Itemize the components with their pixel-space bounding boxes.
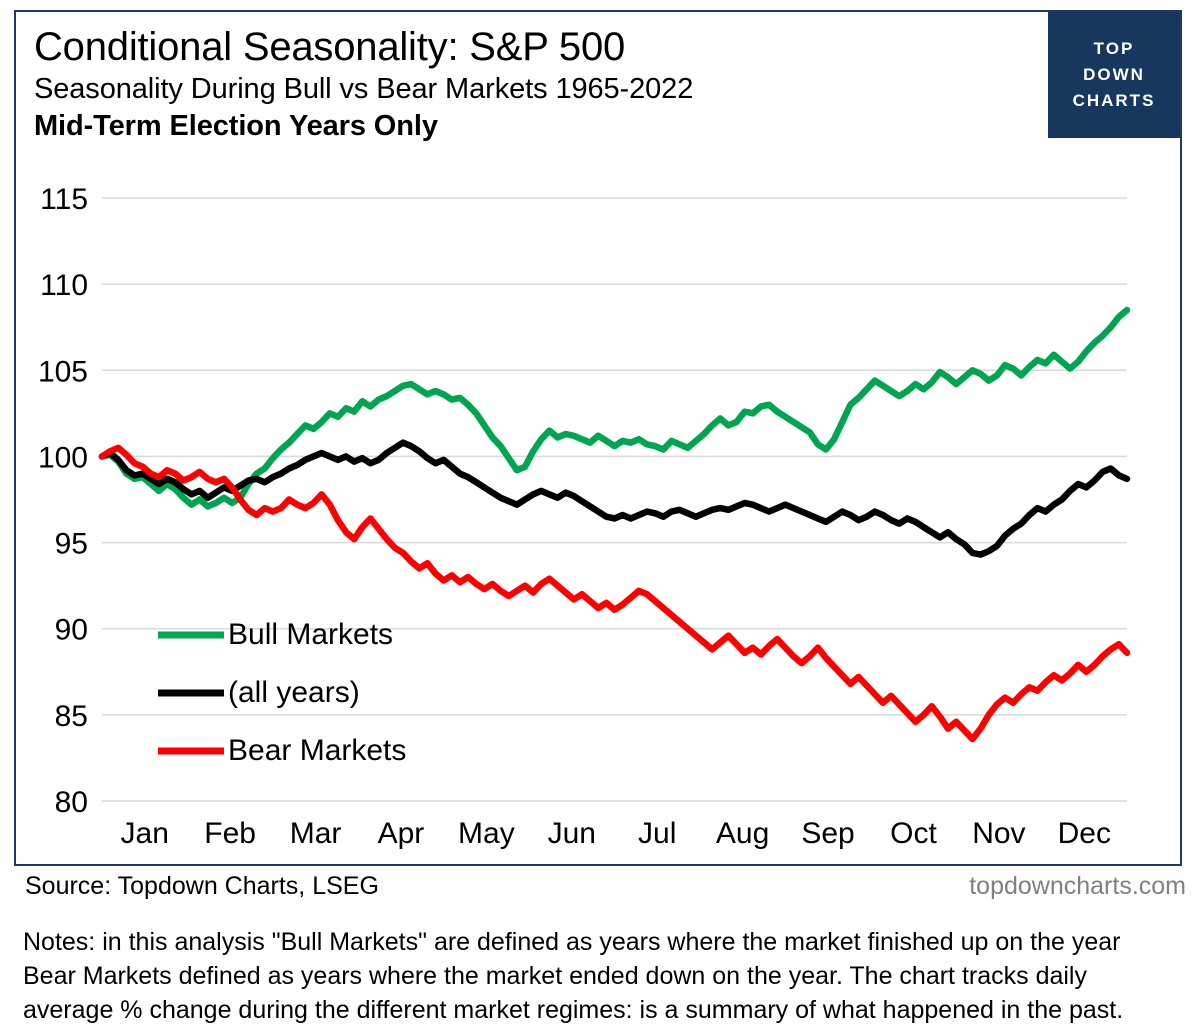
legend-label: Bear Markets bbox=[228, 734, 406, 767]
x-axis-tick: Oct bbox=[890, 817, 937, 850]
source-row: Source: Topdown Charts, LSEG topdownchar… bbox=[16, 872, 1186, 906]
legend-label: (all years) bbox=[228, 676, 360, 709]
x-axis-tick-labels: JanFebMarAprMayJunJulAugSepOctNovDec bbox=[121, 817, 1111, 850]
source-label: Source: Topdown Charts, LSEG bbox=[25, 872, 379, 901]
y-axis-tick-labels: 80859095100105110115 bbox=[38, 183, 88, 819]
x-axis-tick: Jan bbox=[121, 817, 169, 850]
gridlines bbox=[102, 198, 1127, 801]
series-lines bbox=[102, 310, 1127, 739]
x-axis-tick: Apr bbox=[378, 817, 425, 850]
plot-area: 80859095100105110115 JanFebMarAprMayJunJ… bbox=[16, 12, 1180, 864]
seasonality-line-chart: 80859095100105110115 JanFebMarAprMayJunJ… bbox=[16, 12, 1180, 864]
x-axis-tick: Aug bbox=[716, 817, 769, 850]
y-axis-tick: 80 bbox=[55, 786, 88, 819]
x-axis-tick: Jun bbox=[548, 817, 596, 850]
y-axis-tick: 95 bbox=[55, 528, 88, 561]
x-axis-tick: Mar bbox=[290, 817, 342, 850]
y-axis-tick: 85 bbox=[55, 700, 88, 733]
series-line-all-years bbox=[102, 443, 1127, 555]
legend-label: Bull Markets bbox=[228, 618, 393, 651]
y-axis-tick: 115 bbox=[40, 183, 88, 216]
y-axis-tick: 110 bbox=[40, 269, 88, 302]
x-axis-tick: May bbox=[458, 817, 515, 850]
chart-panel: Conditional Seasonality: S&P 500 Seasona… bbox=[14, 10, 1182, 866]
y-axis-tick: 105 bbox=[38, 355, 88, 388]
chart-legend: Bull Markets(all years)Bear Markets bbox=[158, 618, 406, 767]
note-line: Bear Markets defined as years where the … bbox=[23, 959, 1195, 993]
note-line: Notes: in this analysis "Bull Markets" a… bbox=[23, 925, 1195, 959]
notes-block: Notes: in this analysis "Bull Markets" a… bbox=[23, 925, 1195, 1027]
x-axis-tick: Feb bbox=[204, 817, 256, 850]
x-axis-tick: Sep bbox=[801, 817, 854, 850]
note-line: average % change during the different ma… bbox=[23, 993, 1195, 1027]
website-label: topdowncharts.com bbox=[969, 872, 1186, 901]
y-axis-tick: 90 bbox=[55, 614, 88, 647]
x-axis-tick: Jul bbox=[638, 817, 676, 850]
chart-page: Conditional Seasonality: S&P 500 Seasona… bbox=[0, 0, 1200, 1030]
x-axis-tick: Nov bbox=[972, 817, 1025, 850]
x-axis-tick: Dec bbox=[1058, 817, 1111, 850]
y-axis-tick: 100 bbox=[38, 441, 88, 474]
